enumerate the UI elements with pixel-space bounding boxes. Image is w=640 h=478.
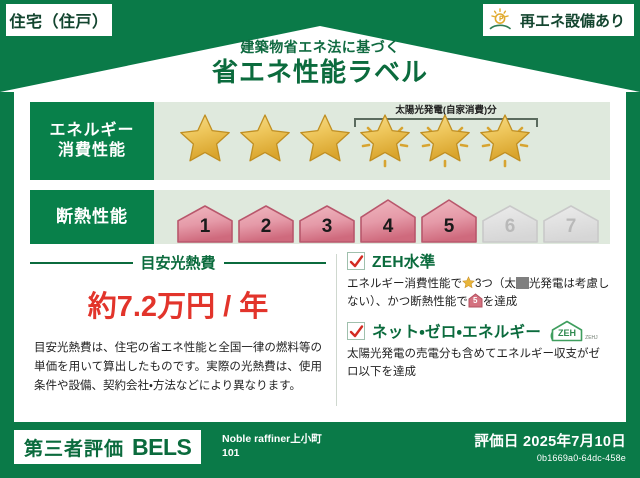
insulation-grade-inline-badge: 5 xyxy=(468,293,483,308)
zeh-item-netzero: ネット・ゼロ・エネルギー ZEH ZEHJ 太陽光発電の売電分も含めてエネルギー… xyxy=(347,320,610,382)
zeh-standard-title: ZEH水準 xyxy=(372,250,436,272)
insulation-grade-6: 6 xyxy=(481,204,539,244)
property-unit: 101 xyxy=(222,446,322,460)
star-icon xyxy=(236,112,294,170)
insulation-grade-inline-number: 5 xyxy=(468,295,483,308)
bels-jp-text: 第三者評価 xyxy=(24,434,124,461)
property-info: Noble raffiner上小町 101 xyxy=(222,432,322,460)
zeh-desc-part1: エネルギー消費性能で xyxy=(347,278,462,290)
insulation-grade-2: 2 xyxy=(237,204,295,244)
star-icon xyxy=(296,112,354,170)
zeh-netzero-desc: 太陽光発電の売電分も含めてエネルギー収支がゼロ以下を達成 xyxy=(347,345,610,382)
label-footer: 第三者評価 BELS Noble raffiner上小町 101 評価日 202… xyxy=(0,422,640,478)
zeh-item-standard: ZEH水準 エネルギー消費性能で 3つ（太光発電は考慮しない）、かつ断熱性能で … xyxy=(347,250,610,312)
lower-section: 目安光熱費 約7.2万円 / 年 目安光熱費は、住宅の省エネ性能と全国一律の燃料… xyxy=(30,250,610,410)
insulation-grade-1: 1 xyxy=(176,204,234,244)
renewable-energy-badge: 再エネ設備あり xyxy=(483,4,634,36)
insulation-grade-number: 7 xyxy=(542,216,600,238)
label-title-block: 建築物省エネ法に基づく 省エネ性能ラベル xyxy=(0,40,640,89)
insulation-grade-number: 1 xyxy=(176,216,234,238)
check-icon xyxy=(349,324,364,339)
zeh-house-logo-icon: ZEH xyxy=(550,320,584,342)
bels-en-text: BELS xyxy=(132,434,191,461)
svg-text:ZEH: ZEH xyxy=(558,328,576,338)
insulation-performance-body: 1 2 3 xyxy=(154,190,610,244)
zeh-desc-part4: を達成 xyxy=(483,296,518,308)
label-subtitle: 建築物省エネ法に基づく xyxy=(0,40,640,55)
star-icon-solar xyxy=(356,112,414,170)
column-divider xyxy=(336,254,337,406)
insulation-grade-number: 6 xyxy=(481,216,539,238)
energy-performance-label: エネルギー 消費性能 xyxy=(30,102,154,180)
star-icon-solar xyxy=(476,112,534,170)
insulation-grade-scale: 1 2 3 xyxy=(154,190,600,244)
checkbox-zeh-standard[interactable] xyxy=(347,252,365,270)
utility-cost-heading-text: 目安光熱費 xyxy=(141,252,216,273)
utility-cost-column: 目安光熱費 約7.2万円 / 年 目安光熱費は、住宅の省エネ性能と全国一律の燃料… xyxy=(30,250,336,410)
star-icon xyxy=(176,112,234,170)
house-type-text: 住宅（住戸） xyxy=(9,8,108,32)
zeh-logo-sub: ZEHJ xyxy=(585,335,598,341)
energy-label-line2: 消費性能 xyxy=(58,141,126,161)
energy-performance-body: 太陽光発電(自家消費)分 xyxy=(154,102,610,180)
zeh-standard-head: ZEH水準 xyxy=(347,250,610,272)
energy-performance-label: 住宅（住戸） 再エネ設備あり 建築物省エネ法に基づく 省エネ性能ラベル xyxy=(0,0,640,478)
utility-cost-note: 目安光熱費は、住宅の省エネ性能と全国一律の燃料等の単価を用いて算出したものです。… xyxy=(30,339,326,396)
insulation-grade-7: 7 xyxy=(542,204,600,244)
insulation-grade-5: 5 xyxy=(420,198,478,244)
check-icon xyxy=(349,254,364,269)
star-rating xyxy=(154,112,534,170)
property-name: Noble raffiner上小町 xyxy=(222,432,322,446)
utility-cost-heading: 目安光熱費 xyxy=(30,252,326,273)
insulation-performance-row: 断熱性能 1 2 xyxy=(30,190,610,244)
insulation-grade-3: 3 xyxy=(298,204,356,244)
energy-performance-row: エネルギー 消費性能 太陽光発電(自家消費)分 xyxy=(30,102,610,180)
redaction-mark xyxy=(516,277,529,289)
renewable-energy-text: 再エネ設備あり xyxy=(520,10,625,31)
zeh-netzero-title: ネット・ゼロ・エネルギー xyxy=(372,320,541,342)
insulation-grade-number: 5 xyxy=(420,216,478,238)
zeh-logo: ZEH ZEHJ xyxy=(550,320,598,342)
evaluation-id: 0b1669a0-64dc-458e xyxy=(474,453,626,463)
bels-badge: 第三者評価 BELS xyxy=(14,430,201,464)
zeh-desc-part2: 3つ（太 xyxy=(475,278,516,290)
house-type-badge: 住宅（住戸） xyxy=(6,4,112,36)
zeh-column: ZEH水準 エネルギー消費性能で 3つ（太光発電は考慮しない）、かつ断熱性能で … xyxy=(347,250,610,410)
evaluation-date: 評価日 2025年7月10日 xyxy=(474,430,626,451)
rule-left xyxy=(30,262,133,264)
label-title: 省エネ性能ラベル xyxy=(0,56,640,89)
energy-label-line1: エネルギー xyxy=(49,121,134,141)
star-icon xyxy=(462,276,475,289)
insulation-performance-label: 断熱性能 xyxy=(30,190,154,244)
checkbox-zeh-netzero[interactable] xyxy=(347,322,365,340)
utility-cost-value: 約7.2万円 / 年 xyxy=(30,283,326,325)
insulation-grade-number: 3 xyxy=(298,216,356,238)
rule-right xyxy=(224,262,327,264)
zeh-netzero-head: ネット・ゼロ・エネルギー ZEH ZEHJ xyxy=(347,320,610,342)
insulation-grade-number: 4 xyxy=(359,216,417,238)
evaluation-info: 評価日 2025年7月10日 0b1669a0-64dc-458e xyxy=(474,430,626,463)
star-icon-solar xyxy=(416,112,474,170)
label-card: エネルギー 消費性能 太陽光発電(自家消費)分 xyxy=(14,92,626,422)
insulation-grade-4: 4 xyxy=(359,198,417,244)
sun-icon xyxy=(489,8,516,32)
insulation-label-text: 断熱性能 xyxy=(56,206,128,227)
zeh-standard-desc: エネルギー消費性能で 3つ（太光発電は考慮しない）、かつ断熱性能で 5 を達成 xyxy=(347,275,610,312)
insulation-grade-number: 2 xyxy=(237,216,295,238)
